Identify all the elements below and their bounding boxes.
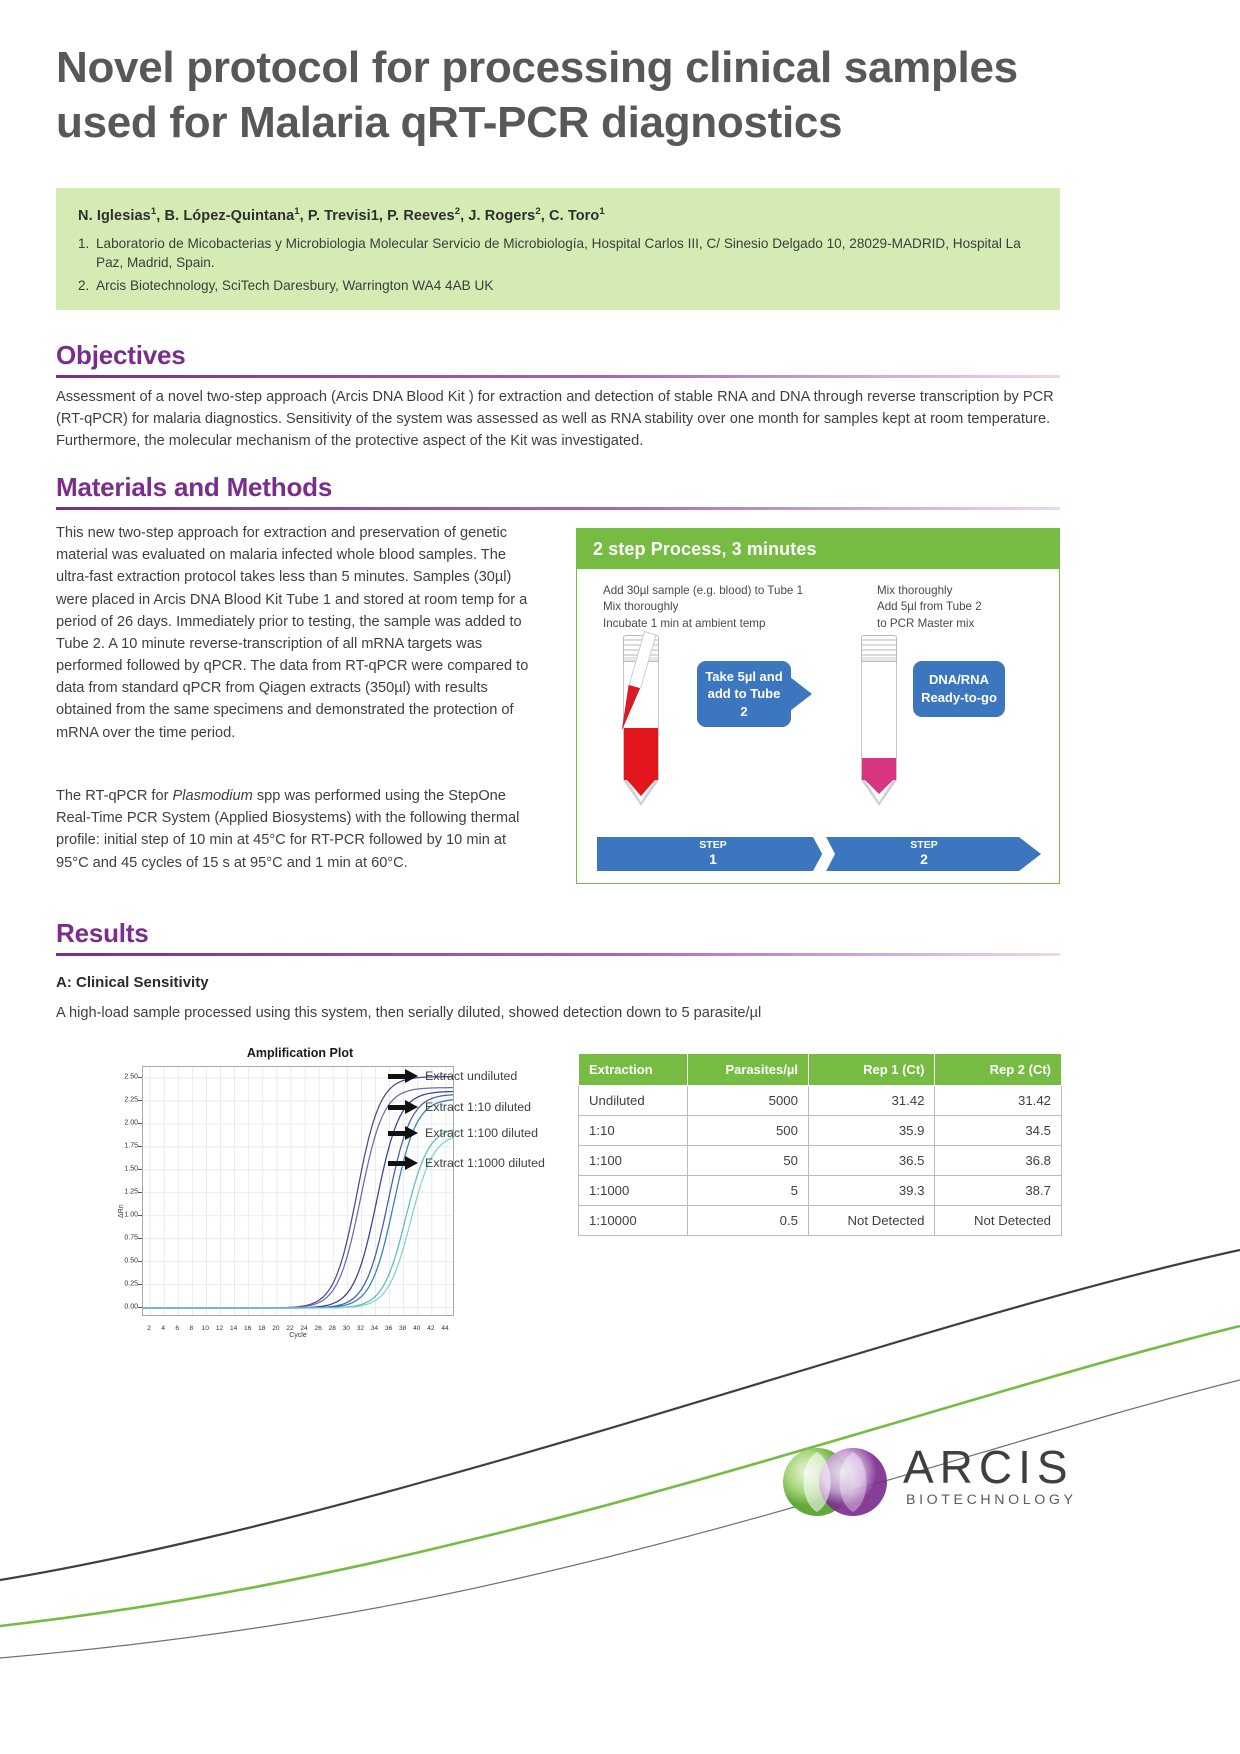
table-cell: 31.42 <box>935 1086 1062 1116</box>
logo-tagline: BIOTECHNOLOGY <box>906 1492 1077 1508</box>
chart-y-tick-label: 1.50 <box>112 1165 138 1172</box>
table-row: 1:1005036.536.8 <box>579 1146 1062 1176</box>
tube-fill <box>862 758 896 780</box>
table-row: 1:1000539.338.7 <box>579 1176 1062 1206</box>
chart-y-tick-mark <box>138 1123 142 1124</box>
callout-dna-rna-ready: DNA/RNA Ready-to-go <box>913 661 1005 717</box>
affiliation-list: 1. Laboratorio de Micobacterias y Microb… <box>78 234 1038 296</box>
results-subheading: A: Clinical Sensitivity <box>56 974 209 991</box>
table-row: Undiluted500031.4231.42 <box>579 1086 1062 1116</box>
affiliation-item: 1. Laboratorio de Micobacterias y Microb… <box>78 234 1038 273</box>
th-parasites: Parasites/µl <box>688 1054 809 1086</box>
poster-page: Novel protocol for processing clinical s… <box>0 0 1240 1754</box>
author-band: N. Iglesias1, B. López-Quintana1, P. Tre… <box>56 188 1060 310</box>
step-2-number: 2 <box>829 852 1019 868</box>
chart-y-tick-mark <box>138 1192 142 1193</box>
chart-y-tick-label: 1.75 <box>112 1142 138 1149</box>
table-row: 1:1050035.934.5 <box>579 1116 1062 1146</box>
th-rep1: Rep 1 (Ct) <box>808 1054 935 1086</box>
methods-p2-italic: Plasmodium <box>173 788 253 804</box>
results-heading: Results <box>56 918 149 949</box>
chart-y-tick-label: 2.25 <box>112 1096 138 1103</box>
affiliation-number: 1. <box>78 234 96 273</box>
diagram-left-instructions: Add 30µl sample (e.g. blood) to Tube 1 M… <box>603 583 803 632</box>
tube-tip <box>623 780 659 806</box>
chart-y-tick-mark <box>138 1146 142 1147</box>
chart-y-tick-mark <box>138 1169 142 1170</box>
chart-y-tick-label: 1.00 <box>112 1211 138 1218</box>
chart-annotation-0: Extract undiluted <box>388 1069 517 1083</box>
methods-heading: Materials and Methods <box>56 472 332 503</box>
annotation-label: Extract undiluted <box>425 1069 517 1083</box>
chart-y-tick-mark <box>138 1215 142 1216</box>
diagram-header: 2 step Process, 3 minutes <box>577 529 1059 569</box>
table-cell: 5 <box>688 1176 809 1206</box>
step-bar-arrowhead-icon <box>1019 837 1041 871</box>
chart-annotation-2: Extract 1:100 diluted <box>388 1126 538 1140</box>
table-cell: 1:1000 <box>579 1176 688 1206</box>
results-table: Extraction Parasites/µl Rep 1 (Ct) Rep 2… <box>578 1053 1062 1236</box>
chart-annotation-1: Extract 1:10 diluted <box>388 1100 531 1114</box>
table-cell: 36.8 <box>935 1146 1062 1176</box>
objectives-text: Assessment of a novel two-step approach … <box>56 386 1060 453</box>
th-extraction: Extraction <box>579 1054 688 1086</box>
chart-y-tick-label: 2.00 <box>112 1119 138 1126</box>
methods-p2-a: The RT-qPCR for <box>56 788 173 804</box>
logo-mark-icon <box>775 1430 895 1535</box>
table-cell: 50 <box>688 1146 809 1176</box>
chart-y-tick-label: 1.25 <box>112 1188 138 1195</box>
table-cell: Undiluted <box>579 1086 688 1116</box>
chart-y-tick-label: 2.50 <box>112 1074 138 1081</box>
affiliation-text: Laboratorio de Micobacterias y Microbiol… <box>96 234 1038 273</box>
table-cell: 36.5 <box>808 1146 935 1176</box>
diagram-body: Add 30µl sample (e.g. blood) to Tube 1 M… <box>577 569 1059 883</box>
logo-wordmark: ARCIS <box>903 1440 1074 1494</box>
table-cell: 1:100 <box>579 1146 688 1176</box>
th-rep2: Rep 2 (Ct) <box>935 1054 1062 1086</box>
annotation-arrow-icon <box>388 1157 418 1169</box>
annotation-label: Extract 1:100 diluted <box>425 1126 538 1140</box>
step-bar: STEP 1 STEP 2 <box>597 837 1041 871</box>
results-caption: A high-load sample processed using this … <box>56 1002 1060 1024</box>
two-step-process-diagram: 2 step Process, 3 minutes Add 30µl sampl… <box>576 528 1060 884</box>
step-1-number: 1 <box>597 852 829 868</box>
chart-annotation-3: Extract 1:1000 diluted <box>388 1156 545 1170</box>
annotation-arrow-icon <box>388 1101 418 1113</box>
diagram-right-instructions: Mix thoroughly Add 5µl from Tube 2 to PC… <box>877 583 982 632</box>
affiliation-text: Arcis Biotechnology, SciTech Daresbury, … <box>96 276 1038 295</box>
table-cell: 1:10 <box>579 1116 688 1146</box>
tube-tip <box>861 780 897 806</box>
affiliation-item: 2. Arcis Biotechnology, SciTech Daresbur… <box>78 276 1038 295</box>
table-cell: 31.42 <box>808 1086 935 1116</box>
page-title: Novel protocol for processing clinical s… <box>56 40 1066 151</box>
methods-paragraph-1: This new two-step approach for extractio… <box>56 522 540 744</box>
results-rule <box>56 953 1060 956</box>
methods-rule <box>56 507 1060 510</box>
methods-paragraph-2: The RT-qPCR for Plasmodium spp was perfo… <box>56 785 540 874</box>
table-body: Undiluted500031.4231.421:1050035.934.51:… <box>579 1086 1062 1236</box>
table-cell: 35.9 <box>808 1116 935 1146</box>
step-2-segment: STEP 2 <box>829 837 1019 871</box>
step-1-segment: STEP 1 <box>597 837 829 871</box>
table-cell: 39.3 <box>808 1176 935 1206</box>
step-2-label: STEP <box>829 840 1019 852</box>
step-1-label: STEP <box>597 840 829 852</box>
process-arrow-icon <box>790 677 812 711</box>
table-head: Extraction Parasites/µl Rep 1 (Ct) Rep 2… <box>579 1054 1062 1086</box>
callout-take-5ul: Take 5µl and add to Tube 2 <box>697 661 791 727</box>
chart-y-tick-mark <box>138 1100 142 1101</box>
annotation-label: Extract 1:10 diluted <box>425 1100 531 1114</box>
table-cell: 38.7 <box>935 1176 1062 1206</box>
arcis-logo: ARCIS BIOTECHNOLOGY <box>775 1430 1075 1540</box>
chart-y-tick-mark <box>138 1077 142 1078</box>
objectives-rule <box>56 375 1060 378</box>
annotation-arrow-icon <box>388 1127 418 1139</box>
annotation-arrow-icon <box>388 1070 418 1082</box>
tube-2-graphic <box>861 635 897 806</box>
table-cell: 500 <box>688 1116 809 1146</box>
table-header-row: Extraction Parasites/µl Rep 1 (Ct) Rep 2… <box>579 1054 1062 1086</box>
author-list: N. Iglesias1, B. López-Quintana1, P. Tre… <box>78 206 1038 224</box>
table-cell: 5000 <box>688 1086 809 1116</box>
annotation-label: Extract 1:1000 diluted <box>425 1156 545 1170</box>
chart-title: Amplification Plot <box>160 1046 440 1060</box>
tube-barrel <box>861 662 897 780</box>
affiliation-number: 2. <box>78 276 96 295</box>
tube-fill <box>624 728 658 780</box>
tube-cap-icon <box>861 635 897 657</box>
table-cell: 34.5 <box>935 1116 1062 1146</box>
objectives-heading: Objectives <box>56 340 186 371</box>
